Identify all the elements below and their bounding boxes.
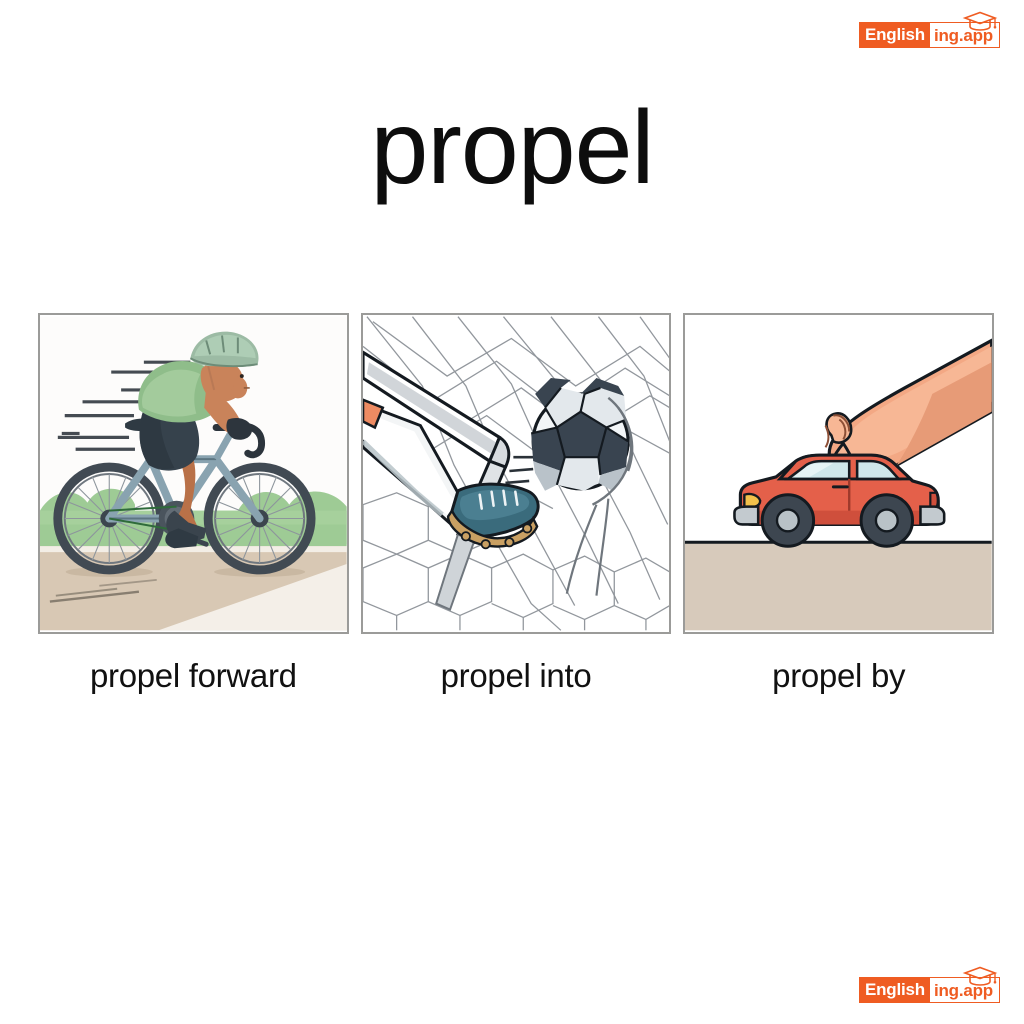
brand-logo-top[interactable]: English ing.app [859,22,1000,48]
page-title: propel [0,96,1024,200]
illustration-card-propel-forward[interactable] [38,313,349,634]
illustration-panel-row [38,313,994,634]
graduation-cap-icon [962,9,998,33]
caption-propel-by: propel by [683,652,994,704]
hand-pushing-toy-car-illustration [685,315,992,632]
soccer-ball-icon [531,378,632,505]
caption-propel-forward: propel forward [38,652,349,704]
illustration-card-propel-by[interactable] [683,313,994,634]
caption-row: propel forward propel into propel by [38,652,994,704]
brand-logo-left-text: English [859,977,930,1003]
soccer-cleat-icon [448,484,538,548]
brand-logo-bottom[interactable]: English ing.app [859,977,1000,1003]
soccer-ball-kicked-into-net-illustration [363,315,670,632]
brand-logo-left-text: English [859,22,930,48]
caption-propel-into: propel into [361,652,672,704]
illustration-card-propel-into[interactable] [361,313,672,634]
cyclist-riding-bicycle-illustration [40,315,347,632]
graduation-cap-icon [962,964,998,988]
